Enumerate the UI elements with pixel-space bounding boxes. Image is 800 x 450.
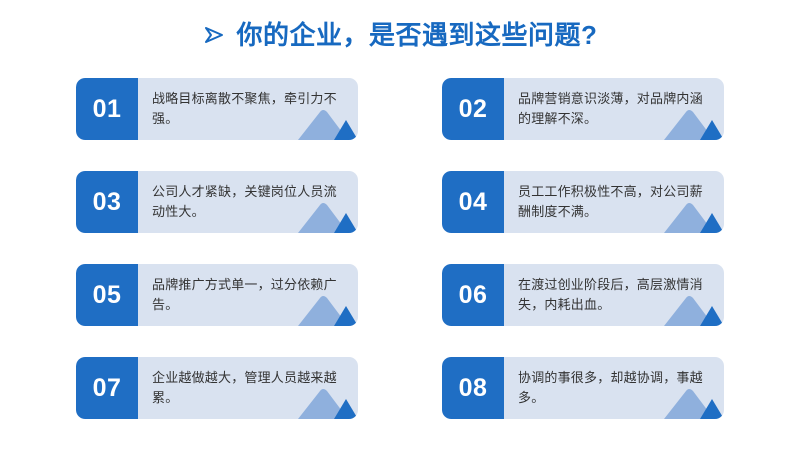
card-text: 品牌推广方式单一，过分依赖广告。	[152, 275, 348, 315]
card-number-badge: 01	[76, 78, 138, 140]
card-number-badge: 06	[442, 264, 504, 326]
card-body: 协调的事很多，却越协调，事越多。	[504, 357, 724, 419]
page-title: 你的企业，是否遇到这些问题?	[237, 22, 598, 48]
card-number-badge: 08	[442, 357, 504, 419]
card-text: 企业越做越大，管理人员越来越累。	[152, 368, 348, 408]
card-number-badge: 05	[76, 264, 138, 326]
card-number-badge: 03	[76, 171, 138, 233]
card-body: 品牌营销意识淡薄，对品牌内涵的理解不深。	[504, 78, 724, 140]
card-text: 战略目标离散不聚焦，牵引力不强。	[152, 89, 348, 129]
card-body: 企业越做越大，管理人员越来越累。	[138, 357, 358, 419]
card-text: 协调的事很多，却越协调，事越多。	[518, 368, 714, 408]
card-body: 在渡过创业阶段后，高层激情消失，内耗出血。	[504, 264, 724, 326]
card-text: 品牌营销意识淡薄，对品牌内涵的理解不深。	[518, 89, 714, 129]
card-body: 品牌推广方式单一，过分依赖广告。	[138, 264, 358, 326]
problem-card[interactable]: 08 协调的事很多，却越协调，事越多。	[442, 357, 724, 419]
problem-card[interactable]: 07 企业越做越大，管理人员越来越累。	[76, 357, 358, 419]
card-text: 公司人才紧缺，关键岗位人员流动性大。	[152, 182, 348, 222]
problem-card[interactable]: 04 员工工作积极性不高，对公司薪酬制度不满。	[442, 171, 724, 233]
triangle-right-arrow-icon	[203, 24, 225, 46]
card-number-badge: 07	[76, 357, 138, 419]
problem-card[interactable]: 06 在渡过创业阶段后，高层激情消失，内耗出血。	[442, 264, 724, 326]
slide-title-row: 你的企业，是否遇到这些问题?	[0, 22, 800, 48]
problem-card[interactable]: 03 公司人才紧缺，关键岗位人员流动性大。	[76, 171, 358, 233]
slide-canvas: 你的企业，是否遇到这些问题? 01 战略目标离散不聚焦，牵引力不强。 02 品牌…	[0, 0, 800, 450]
card-number-badge: 04	[442, 171, 504, 233]
card-body: 员工工作积极性不高，对公司薪酬制度不满。	[504, 171, 724, 233]
problem-card-grid: 01 战略目标离散不聚焦，牵引力不强。 02 品牌营销意识淡薄，对品牌内涵的理解…	[76, 78, 724, 426]
problem-card[interactable]: 02 品牌营销意识淡薄，对品牌内涵的理解不深。	[442, 78, 724, 140]
problem-card[interactable]: 01 战略目标离散不聚焦，牵引力不强。	[76, 78, 358, 140]
problem-card[interactable]: 05 品牌推广方式单一，过分依赖广告。	[76, 264, 358, 326]
card-number-badge: 02	[442, 78, 504, 140]
card-text: 员工工作积极性不高，对公司薪酬制度不满。	[518, 182, 714, 222]
card-body: 公司人才紧缺，关键岗位人员流动性大。	[138, 171, 358, 233]
card-text: 在渡过创业阶段后，高层激情消失，内耗出血。	[518, 275, 714, 315]
card-body: 战略目标离散不聚焦，牵引力不强。	[138, 78, 358, 140]
